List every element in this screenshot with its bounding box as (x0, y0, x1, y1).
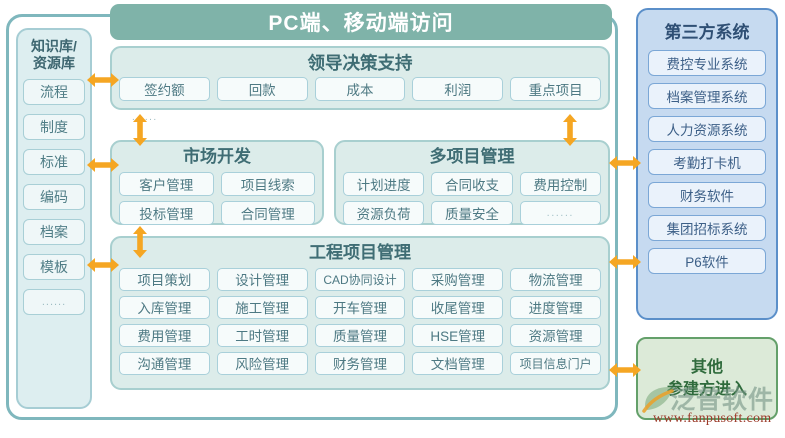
market-development-panel: 市场开发 客户管理 项目线索 投标管理 合同管理 (110, 140, 324, 225)
sidebar-item-process[interactable]: 流程 (23, 79, 85, 105)
sidebar-item-standard[interactable]: 标准 (23, 149, 85, 175)
third-party-item-hr-system[interactable]: 人力资源系统 (648, 116, 766, 142)
third-party-item-expense-control[interactable]: 费控专业系统 (648, 50, 766, 76)
third-party-item-archive-system[interactable]: 档案管理系统 (648, 83, 766, 109)
knowledge-base-title: 知识库/ 资源库 (31, 38, 77, 71)
knowledge-base-title-line1: 知识库/ (31, 38, 77, 55)
diagram-canvas: PC端、移动端访问 知识库/ 资源库 流程 制度 标准 编码 档案 模板 ...… (0, 0, 785, 438)
arrow-engineering-to-other-parties (608, 360, 642, 380)
header-bar: PC端、移动端访问 (110, 4, 612, 40)
third-party-item-group-bidding-system[interactable]: 集团招标系统 (648, 215, 766, 241)
chip-plan-progress[interactable]: 计划进度 (343, 172, 424, 196)
chip-design-management[interactable]: 设计管理 (217, 268, 308, 291)
chip-multi-project-more[interactable]: ...... (520, 201, 601, 225)
multi-project-chip-row-1: 计划进度 合同收支 费用控制 (343, 172, 601, 196)
chip-bidding-management[interactable]: 投标管理 (119, 201, 214, 225)
third-party-item-p6-software[interactable]: P6软件 (648, 248, 766, 274)
chip-worktime-management[interactable]: 工时管理 (217, 324, 308, 347)
chip-project-info-portal[interactable]: 项目信息门户 (510, 352, 601, 375)
chip-construction-management[interactable]: 施工管理 (217, 296, 308, 319)
chip-resource-load[interactable]: 资源负荷 (343, 201, 424, 225)
market-panel-title: 市场开发 (119, 148, 315, 167)
chip-contract-income-expense[interactable]: 合同收支 (431, 172, 512, 196)
market-chip-row-2: 投标管理 合同管理 (119, 201, 315, 225)
third-party-systems-sidebar: 第三方系统 费控专业系统 档案管理系统 人力资源系统 考勤打卡机 财务软件 集团… (636, 8, 778, 320)
multi-project-chip-row-2: 资源负荷 质量安全 ...... (343, 201, 601, 225)
chip-hse-management[interactable]: HSE管理 (412, 324, 503, 347)
chip-cost[interactable]: 成本 (315, 77, 406, 101)
chip-resource-management[interactable]: 资源管理 (510, 324, 601, 347)
chip-customer-management[interactable]: 客户管理 (119, 172, 214, 196)
third-party-item-attendance-machine[interactable]: 考勤打卡机 (648, 149, 766, 175)
chip-procurement-management[interactable]: 采购管理 (412, 268, 503, 291)
chip-logistics-management[interactable]: 物流管理 (510, 268, 601, 291)
multi-project-panel-title: 多项目管理 (343, 148, 601, 167)
market-chip-row-1: 客户管理 项目线索 (119, 172, 315, 196)
chip-expense-control[interactable]: 费用控制 (520, 172, 601, 196)
chip-document-management[interactable]: 文档管理 (412, 352, 503, 375)
engineering-chip-row-4: 沟通管理 风险管理 财务管理 文档管理 项目信息门户 (119, 352, 601, 375)
chip-project-leads[interactable]: 项目线索 (221, 172, 316, 196)
sidebar-item-coding[interactable]: 编码 (23, 184, 85, 210)
arrow-leadership-to-market (130, 113, 150, 147)
engineering-panel-title: 工程项目管理 (119, 244, 601, 263)
chip-progress-management[interactable]: 进度管理 (510, 296, 601, 319)
sidebar-item-archive[interactable]: 档案 (23, 219, 85, 245)
sidebar-item-system[interactable]: 制度 (23, 114, 85, 140)
third-party-title: 第三方系统 (665, 18, 750, 43)
engineering-project-panel: 工程项目管理 项目策划 设计管理 CAD协同设计 采购管理 物流管理 入库管理 … (110, 236, 610, 390)
other-participants-box[interactable]: 其他 参建方进入 (636, 337, 778, 420)
knowledge-base-sidebar: 知识库/ 资源库 流程 制度 标准 编码 档案 模板 ...... (16, 28, 92, 409)
leadership-chip-row: 签约额 回款 成本 利润 重点项目 (119, 77, 601, 101)
chip-payment-collection[interactable]: 回款 (217, 77, 308, 101)
chip-quality-safety[interactable]: 质量安全 (431, 201, 512, 225)
sidebar-item-more[interactable]: ...... (23, 289, 85, 315)
chip-contract-management[interactable]: 合同管理 (221, 201, 316, 225)
chip-startup-management[interactable]: 开车管理 (315, 296, 406, 319)
middle-row: 市场开发 客户管理 项目线索 投标管理 合同管理 多项目管理 计划进度 合同收支… (110, 140, 610, 225)
engineering-chip-row-1: 项目策划 设计管理 CAD协同设计 采购管理 物流管理 (119, 268, 601, 291)
chip-warehouse-management[interactable]: 入库管理 (119, 296, 210, 319)
engineering-chip-row-3: 费用管理 工时管理 质量管理 HSE管理 资源管理 (119, 324, 601, 347)
knowledge-base-title-line2: 资源库 (31, 55, 77, 72)
chip-project-planning[interactable]: 项目策划 (119, 268, 210, 291)
leadership-panel-title: 领导决策支持 (119, 54, 601, 73)
arrow-left-to-engineering (86, 255, 120, 275)
chip-profit[interactable]: 利润 (412, 77, 503, 101)
header-title: PC端、移动端访问 (268, 7, 453, 37)
chip-signed-amount[interactable]: 签约额 (119, 77, 210, 101)
sidebar-item-template[interactable]: 模板 (23, 254, 85, 280)
arrow-left-to-leadership (86, 70, 120, 90)
other-participants-line2: 参建方进入 (667, 379, 747, 401)
arrow-engineering-to-thirdparty (608, 252, 642, 272)
chip-finance-management[interactable]: 财务管理 (315, 352, 406, 375)
chip-risk-management[interactable]: 风险管理 (217, 352, 308, 375)
chip-communication-management[interactable]: 沟通管理 (119, 352, 210, 375)
chip-closeout-management[interactable]: 收尾管理 (412, 296, 503, 319)
arrow-market-to-engineering (130, 225, 150, 259)
arrow-left-to-market (86, 155, 120, 175)
chip-cad-collaborative-design[interactable]: CAD协同设计 (315, 268, 406, 291)
chip-expense-management[interactable]: 费用管理 (119, 324, 210, 347)
other-participants-line1: 其他 (691, 357, 723, 379)
leadership-panel: 领导决策支持 签约额 回款 成本 利润 重点项目 (110, 46, 610, 110)
arrow-multiproject-to-thirdparty (608, 153, 642, 173)
engineering-chip-row-2: 入库管理 施工管理 开车管理 收尾管理 进度管理 (119, 296, 601, 319)
third-party-item-finance-software[interactable]: 财务软件 (648, 182, 766, 208)
chip-quality-management[interactable]: 质量管理 (315, 324, 406, 347)
arrow-leadership-to-multiproject (560, 113, 580, 147)
multi-project-panel: 多项目管理 计划进度 合同收支 费用控制 资源负荷 质量安全 ...... (334, 140, 610, 225)
chip-key-projects[interactable]: 重点项目 (510, 77, 601, 101)
